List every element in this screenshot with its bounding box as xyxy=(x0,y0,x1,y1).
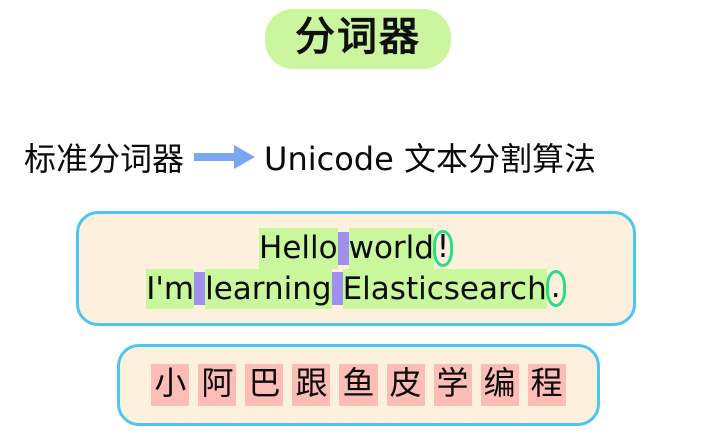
token-cjk-char: 鱼 xyxy=(339,364,377,405)
token-space-marker xyxy=(332,272,343,305)
token-cjk-char: 小 xyxy=(151,364,189,405)
page-title: 分词器 xyxy=(265,9,451,69)
token-word: Hello xyxy=(259,228,338,268)
token-word: I'm xyxy=(146,269,194,309)
heading-row: 标准分词器 Unicode 文本分割算法 xyxy=(0,128,716,186)
token-cjk-char: 巴 xyxy=(245,364,283,405)
token-word: Elasticsearch xyxy=(343,269,547,309)
cjk-tokenization-card: 小阿巴跟鱼皮学编程 xyxy=(117,344,600,426)
token-word: learning xyxy=(205,269,331,309)
token-punctuation: . xyxy=(546,270,566,307)
latin-tokenization-card: Helloworld! I'mlearningElasticsearch. xyxy=(76,211,636,326)
token-space-marker xyxy=(338,232,349,265)
token-cjk-char: 学 xyxy=(434,364,472,405)
token-cjk-char: 编 xyxy=(481,364,519,405)
token-cjk-char: 皮 xyxy=(387,364,425,405)
token-cjk-char: 程 xyxy=(528,364,566,405)
token-space-marker xyxy=(194,272,205,305)
tokenizer-name-label: 标准分词器 xyxy=(24,134,184,180)
token-line: Helloworld! xyxy=(259,228,453,268)
cjk-token-line: 小阿巴跟鱼皮学编程 xyxy=(151,364,565,405)
tokenizer-algorithm-label: Unicode 文本分割算法 xyxy=(264,134,596,180)
token-punctuation: ! xyxy=(433,230,453,267)
latin-token-lines: Helloworld! I'mlearningElasticsearch. xyxy=(79,228,633,309)
title-row: 分词器 xyxy=(0,0,716,78)
token-word: world xyxy=(349,228,434,268)
token-cjk-char: 阿 xyxy=(198,364,236,405)
token-line: I'mlearningElasticsearch. xyxy=(146,269,565,309)
arrow-right-icon xyxy=(194,142,256,172)
token-cjk-char: 跟 xyxy=(292,364,330,405)
